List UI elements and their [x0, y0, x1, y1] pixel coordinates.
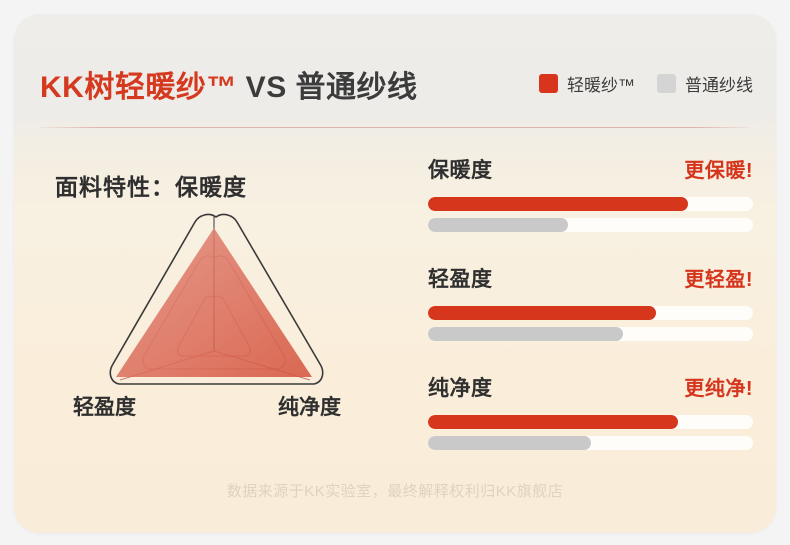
bar-group-lightness: 轻盈度 更轻盈! — [420, 263, 760, 341]
legend-item-product: 轻暖纱™ — [539, 71, 635, 96]
bar-group-purity: 纯净度 更纯净! — [420, 372, 760, 450]
bar-callout: 更纯净! — [684, 372, 753, 401]
page-title: KK树轻暖纱™ VS 普通纱线 — [40, 62, 418, 106]
radar-series-product — [116, 228, 312, 377]
screenshot-root: KK树轻暖纱™ VS 普通纱线 轻暖纱™ 普通纱线 面料特性：保暖度 — [0, 0, 790, 545]
radar-panel: 面料特性：保暖度 — [26, 144, 396, 464]
card-header: KK树轻暖纱™ VS 普通纱线 轻暖纱™ 普通纱线 — [14, 14, 776, 128]
bar-fill-ordinary — [428, 218, 568, 232]
radar-heading: 面料特性：保暖度 — [55, 168, 247, 202]
bar-title: 纯净度 — [428, 372, 493, 402]
bar-callout: 更保暖! — [684, 154, 753, 183]
bar-track-ordinary — [428, 218, 753, 232]
bars-panel: 保暖度 更保暖! 轻盈度 更轻盈! — [420, 154, 760, 450]
bar-track-product — [428, 197, 753, 211]
bar-track-ordinary — [428, 327, 753, 341]
header-divider — [40, 127, 750, 128]
legend-label-ordinary: 普通纱线 — [685, 71, 753, 96]
bar-head: 保暖度 更保暖! — [420, 154, 760, 184]
bar-track-product — [428, 415, 753, 429]
bar-fill-product — [428, 197, 688, 211]
title-brand: KK树轻暖纱™ — [40, 71, 237, 104]
legend-swatch-icon-red — [539, 74, 558, 93]
bar-title: 轻盈度 — [428, 263, 493, 293]
title-vs: VS 普通纱线 — [237, 71, 418, 104]
bar-group-warmth: 保暖度 更保暖! — [420, 154, 760, 232]
bar-head: 纯净度 更纯净! — [420, 372, 760, 402]
bar-title: 保暖度 — [428, 154, 493, 184]
bar-track-ordinary — [428, 436, 753, 450]
bar-fill-product — [428, 415, 678, 429]
bar-head: 轻盈度 更轻盈! — [420, 263, 760, 293]
legend-label-product: 轻暖纱™ — [567, 71, 635, 96]
bar-callout: 更轻盈! — [684, 263, 753, 292]
comparison-card: KK树轻暖纱™ VS 普通纱线 轻暖纱™ 普通纱线 面料特性：保暖度 — [14, 14, 776, 533]
legend: 轻暖纱™ 普通纱线 — [539, 71, 753, 96]
radar-axis-label-right: 纯净度 — [278, 391, 341, 421]
footnote: 数据来源于KK实验室，最终解释权利归KK旗舰店 — [14, 480, 776, 501]
legend-swatch-icon-gray — [657, 74, 676, 93]
legend-item-ordinary: 普通纱线 — [657, 71, 753, 96]
bar-fill-ordinary — [428, 327, 623, 341]
bar-fill-product — [428, 306, 656, 320]
bar-fill-ordinary — [428, 436, 591, 450]
radar-axis-label-left: 轻盈度 — [73, 391, 136, 421]
bar-track-product — [428, 306, 753, 320]
